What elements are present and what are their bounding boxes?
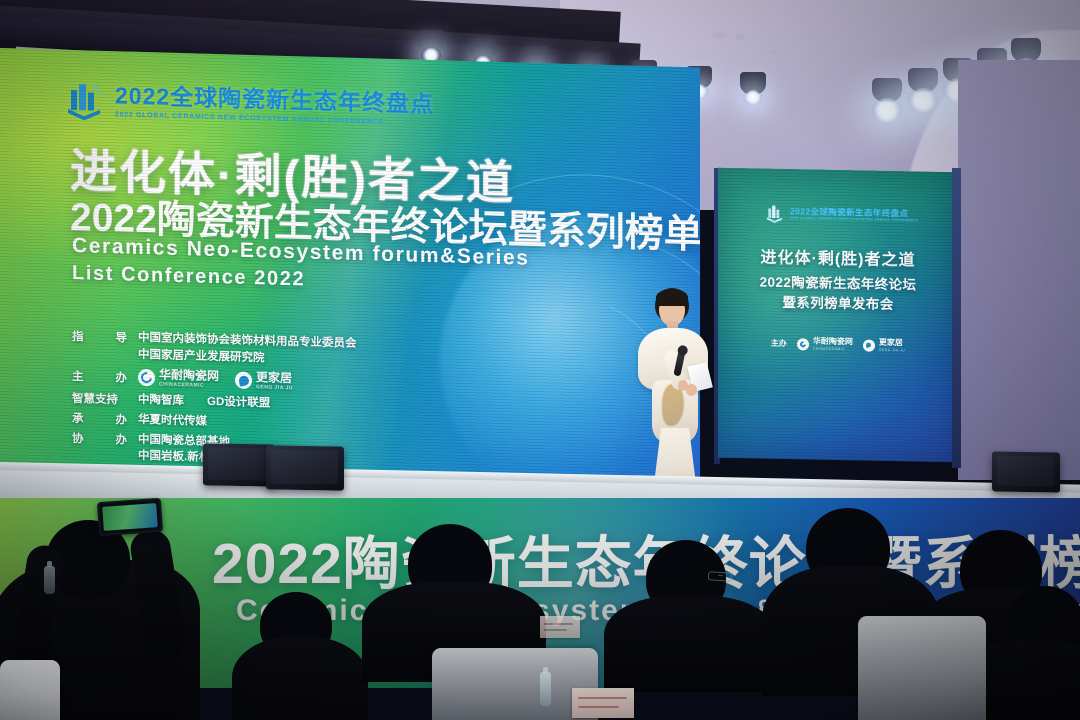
organizer-name: 更家居	[256, 371, 293, 384]
speaker-grille	[208, 447, 269, 480]
water-bottle	[540, 672, 551, 706]
main-brand-cn: 2022全球陶瓷新生态年终盘点	[115, 84, 434, 116]
credit-role: 智慧支持	[72, 390, 138, 408]
eyeglasses-icon	[708, 571, 733, 582]
table-place-card	[540, 616, 580, 638]
right-wall	[958, 60, 1080, 480]
side-screen-brand-lockup: 2022全球陶瓷新生态年终盘点 2022 GLOBAL CERAMICS NEW…	[764, 203, 918, 227]
organizer-logo-huanai: 华耐陶瓷网 CHINACERAMIC	[797, 337, 853, 351]
huanai-c-logo-icon	[797, 338, 809, 350]
spotlight-icon	[872, 78, 902, 102]
credit-role: 协 办	[72, 430, 138, 448]
organizer-sub: GENG JIA JU	[879, 349, 905, 353]
ceiling-fixture-dot	[770, 50, 778, 55]
organizer-name: 华耐陶瓷网	[159, 369, 219, 383]
conference-stage-photo: 2022全球陶瓷新生态年终盘点 2022 GLOBAL CERAMICS NEW…	[0, 0, 1080, 720]
ceiling-fixture-dot	[712, 32, 726, 39]
spotlight-icon	[418, 30, 444, 52]
host-hair-front	[656, 289, 688, 306]
audience-person-silhouette	[232, 636, 368, 720]
credit-role: 承 办	[72, 410, 138, 428]
audience-person-silhouette	[604, 596, 776, 692]
ceiling-fixture-dot	[735, 34, 745, 40]
organizer-sub: CHINACERAMIC	[159, 383, 219, 390]
speaker-grille	[271, 449, 338, 484]
credit-role: 指 导	[72, 328, 138, 346]
phone-screen-preview	[102, 503, 158, 531]
organizer-name: 华耐陶瓷网	[813, 338, 853, 347]
place-card-text-line	[578, 706, 619, 708]
credit-values: 中国室内装饰协会装饰材料用品专业委员会 中国家居产业发展研究院	[138, 330, 357, 369]
smartphone-recording	[97, 498, 163, 536]
place-card-text-line	[544, 629, 567, 631]
organizer-logo-gengjiaju: 更家居 GENG JIA JU	[863, 338, 905, 352]
organizer-name: 更家居	[879, 339, 905, 348]
stage-monitor-speaker	[266, 445, 344, 490]
place-card-text-line	[578, 697, 626, 699]
side-headline: 进化体·剩(胜)者之道	[718, 243, 958, 272]
credit-role: 主 办	[72, 368, 138, 386]
credit-value: 中陶智库 GD设计联盟	[138, 392, 270, 412]
side-brand-en: 2022 GLOBAL CERAMICS NEW ECOSYSTEM ANNUA…	[790, 217, 918, 223]
organizer-sub: CHINACERAMIC	[813, 348, 853, 352]
gengjiaju-drop-logo-icon	[235, 372, 252, 389]
credit-values: 华耐陶瓷网 CHINACERAMIC 更家居 GENG JIA JU	[138, 368, 309, 392]
side-organizer-row: 主办 华耐陶瓷网 CHINACERAMIC 更家居 GENG JIA JU	[718, 336, 958, 354]
side-led-screen: 2022全球陶瓷新生态年终盘点 2022 GLOBAL CERAMICS NEW…	[718, 168, 958, 463]
spotlight-icon	[740, 72, 766, 94]
huanai-c-logo-icon	[138, 369, 155, 386]
host-hand-card	[686, 384, 697, 396]
ceramics-building-logo-icon	[62, 78, 106, 123]
organizer-logo-gengjiaju: 更家居 GENG JIA JU	[235, 371, 293, 392]
ceiling-vent	[640, 18, 688, 34]
side-subheadline-line-2: 暨系列榜单发布会	[718, 292, 958, 317]
spotlight-icon	[1011, 38, 1041, 62]
audience-chair	[858, 616, 986, 720]
credit-values: 中陶智库 GD设计联盟	[138, 392, 270, 412]
chair-shading	[858, 616, 986, 720]
speaker-grille	[997, 455, 1054, 486]
spotlight-icon	[470, 38, 496, 60]
side-subheadline: 2022陶瓷新生态年终论坛 暨系列榜单发布会	[718, 272, 958, 317]
credit-values: 华夏时代传媒	[138, 412, 207, 431]
side-organizer-label: 主办	[771, 338, 787, 349]
stage-monitor-speaker	[992, 451, 1060, 492]
main-led-screen: 2022全球陶瓷新生态年终盘点 2022 GLOBAL CERAMICS NEW…	[0, 48, 700, 508]
table-place-card	[572, 688, 634, 718]
side-screen-frame-right	[952, 168, 961, 468]
credit-value: 华夏时代传媒	[138, 412, 207, 431]
stage-monitor-speaker	[203, 443, 275, 486]
audience-chair	[0, 660, 60, 720]
event-host	[628, 288, 724, 498]
place-card-text-line	[544, 623, 573, 625]
spotlight-icon	[908, 68, 938, 92]
ceramics-building-logo-icon	[764, 203, 785, 224]
organizer-sub: GENG JIA JU	[256, 385, 293, 391]
gengjiaju-drop-logo-icon	[863, 339, 875, 351]
organizer-logo-huanai: 华耐陶瓷网 CHINACERAMIC	[138, 368, 219, 389]
water-bottle	[44, 566, 55, 594]
